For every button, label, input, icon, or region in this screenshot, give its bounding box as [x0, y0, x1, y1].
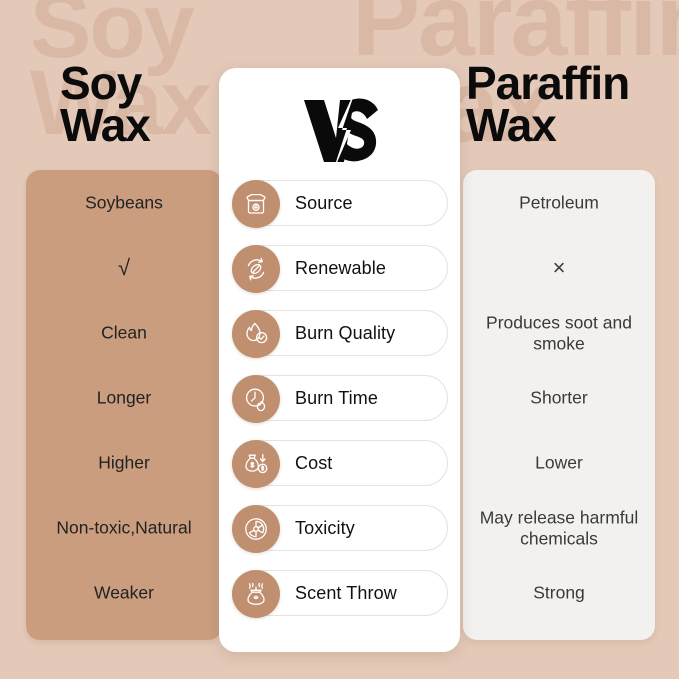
paraffin-value-cost: Lower [463, 453, 655, 474]
paraffin-value-burn-time: Shorter [463, 388, 655, 409]
radioactive-icon [232, 505, 280, 553]
clock-flame-icon [232, 375, 280, 423]
criteria-row-renewable[interactable]: Renewable [232, 245, 448, 291]
heading-soy-wax: Soy Wax [60, 62, 150, 147]
flame-check-icon [232, 310, 280, 358]
soy-value-source: Soybeans [26, 193, 222, 214]
criteria-label-scent-throw: Scent Throw [295, 583, 397, 604]
soy-value-burn-time: Longer [26, 388, 222, 409]
vs-logo [219, 82, 460, 178]
criteria-label-toxicity: Toxicity [295, 518, 355, 539]
criteria-label-source: Source [295, 193, 353, 214]
paraffin-value-burn-quality: Produces soot and smoke [463, 312, 655, 353]
soy-value-cost: Higher [26, 453, 222, 474]
paraffin-value-renewable: × [463, 255, 655, 281]
criteria-row-burn-quality[interactable]: Burn Quality [232, 310, 448, 356]
criteria-row-cost[interactable]: Cost [232, 440, 448, 486]
criteria-label-burn-time: Burn Time [295, 388, 378, 409]
money-bag-down-arrow-icon [232, 440, 280, 488]
paraffin-value-source: Petroleum [463, 193, 655, 214]
criteria-label-renewable: Renewable [295, 258, 386, 279]
heading-paraffin-wax: Paraffin Wax [466, 62, 629, 147]
criteria-row-source[interactable]: Source [232, 180, 448, 226]
criteria-row-toxicity[interactable]: Toxicity [232, 505, 448, 551]
paraffin-value-scent-throw: Strong [463, 583, 655, 604]
sack-leaf-icon [232, 180, 280, 228]
criteria-label-cost: Cost [295, 453, 332, 474]
paraffin-wax-value-panel: Petroleum × Produces soot and smoke Shor… [463, 170, 655, 640]
scent-sachet-icon [232, 570, 280, 618]
criteria-label-burn-quality: Burn Quality [295, 323, 395, 344]
soy-value-burn-quality: Clean [26, 323, 222, 344]
criteria-row-burn-time[interactable]: Burn Time [232, 375, 448, 421]
soy-wax-value-panel: Soybeans √ Clean Longer Higher Non-toxic… [26, 170, 222, 640]
soy-value-toxicity: Non-toxic,Natural [26, 518, 222, 539]
infographic-canvas: Soy Wax Paraffin Wax Soy Wax Paraffin Wa… [0, 0, 679, 679]
soy-value-scent-throw: Weaker [26, 583, 222, 604]
soy-value-renewable: √ [26, 255, 222, 281]
paraffin-value-toxicity: May release harmful chemicals [463, 507, 655, 548]
criteria-row-scent-throw[interactable]: Scent Throw [232, 570, 448, 616]
recycle-leaf-icon [232, 245, 280, 293]
comparison-criteria-card: Source Renewable [219, 68, 460, 652]
